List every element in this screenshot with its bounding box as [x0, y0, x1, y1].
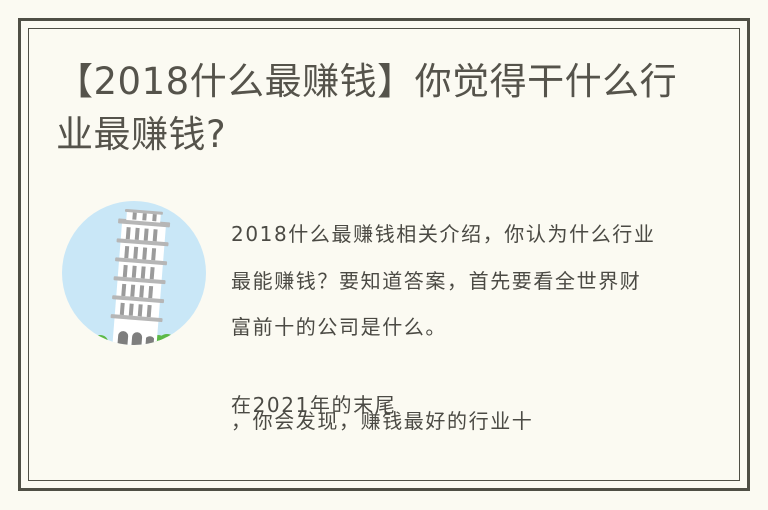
page-title: 【2018什么最赚钱】你觉得干什么行业最赚钱?	[56, 55, 696, 161]
article-card: 【2018什么最赚钱】你觉得干什么行业最赚钱?	[0, 0, 768, 510]
article-paragraph-3: ，你会发现，赚钱最好的行业十	[231, 406, 701, 436]
article-paragraph-1: 2018什么最赚钱相关介绍，你认为什么行业最能赚钱？要知道答案，首先要看全世界财…	[231, 211, 661, 351]
leaning-tower-of-pisa-illustration	[62, 201, 206, 345]
